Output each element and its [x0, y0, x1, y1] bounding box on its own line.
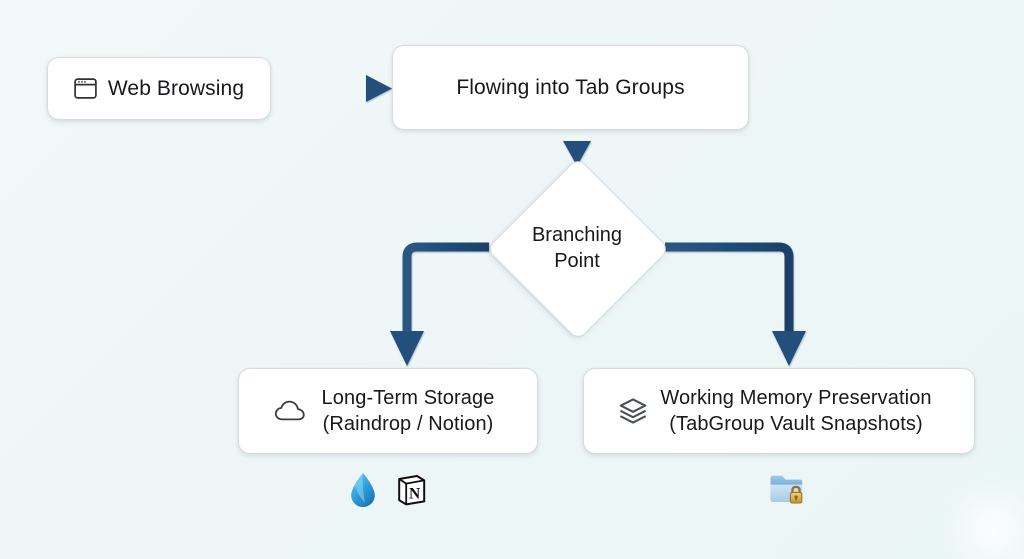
locked-folder-icon	[768, 471, 808, 507]
node-long-term-storage[interactable]: Long-Term Storage (Raindrop / Notion)	[238, 368, 538, 454]
node-tab-groups[interactable]: Flowing into Tab Groups	[392, 45, 749, 130]
diagram-canvas: Web Browsing Flowing into Tab Groups Bra…	[0, 0, 1024, 559]
edge-browsing-to-tabgroups	[271, 75, 392, 102]
notion-logo-icon: N	[396, 473, 427, 507]
droplet-icon	[348, 471, 378, 509]
node-working-memory-preservation-label: Working Memory Preservation (TabGroup Va…	[660, 385, 931, 437]
layers-icon	[618, 396, 648, 426]
browser-window-icon	[74, 78, 97, 99]
node-tab-groups-label: Flowing into Tab Groups	[456, 74, 684, 101]
emoji-group-working-memory	[768, 471, 808, 507]
edge-branching-to-longterm	[390, 247, 489, 366]
cloud-icon	[274, 399, 308, 423]
edge-branching-to-working	[665, 247, 806, 366]
node-branching-point-label: Branching Point	[489, 160, 665, 336]
node-working-memory-preservation[interactable]: Working Memory Preservation (TabGroup Va…	[583, 368, 975, 454]
node-long-term-storage-label: Long-Term Storage (Raindrop / Notion)	[322, 385, 495, 437]
node-branching-point[interactable]: Branching Point	[489, 160, 665, 336]
node-web-browsing-label: Web Browsing	[108, 75, 244, 102]
emoji-group-long-term-storage: N	[348, 471, 427, 509]
node-web-browsing[interactable]: Web Browsing	[47, 57, 271, 120]
svg-text:N: N	[409, 485, 420, 502]
